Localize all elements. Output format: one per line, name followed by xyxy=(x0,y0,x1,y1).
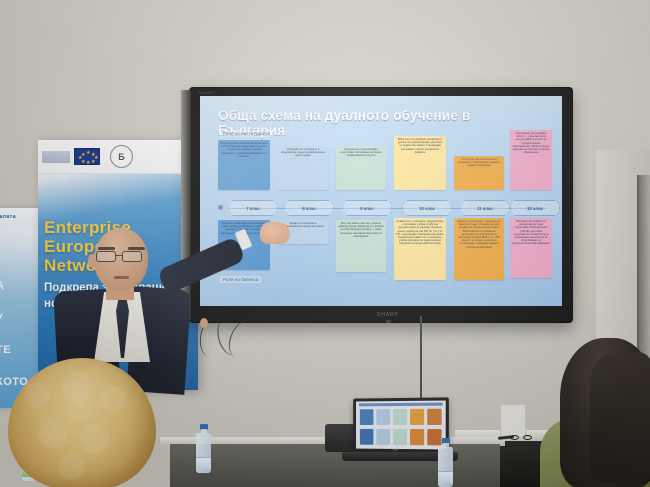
conference-room-photo: палата А У ТЕ КОТО ★★ ★★ ★★ ★★ Б Enterpr… xyxy=(0,0,650,487)
photo-vignette xyxy=(0,0,650,487)
